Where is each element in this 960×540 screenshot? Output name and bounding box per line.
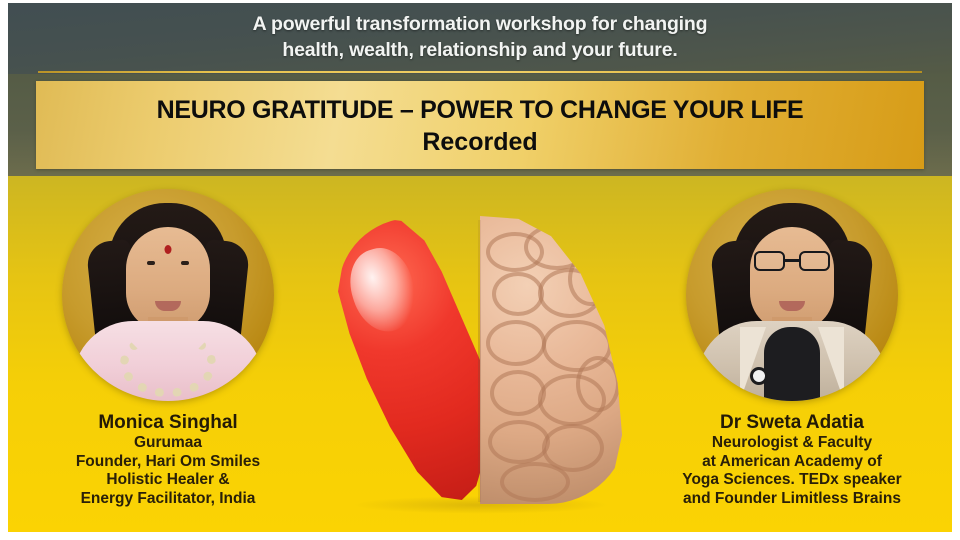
portrait-face (126, 227, 210, 331)
portrait-face (750, 227, 834, 331)
speaker-name: Dr Sweta Adatia (642, 411, 942, 434)
title-plate: NEURO GRATITUDE – POWER TO CHANGE YOUR L… (36, 81, 924, 169)
heart-brain-icon (330, 208, 630, 508)
speaker-credential-line: Yoga Sciences. TEDx speaker (642, 471, 942, 490)
speaker-card-dr-sweta-adatia: Dr Sweta Adatia Neurologist & Faculty at… (642, 189, 942, 508)
portrait-eye-right (181, 261, 189, 265)
portrait-bindi (165, 245, 172, 254)
workshop-format-label: Recorded (422, 126, 537, 158)
portrait-bead-necklace (120, 331, 216, 397)
speaker-credential-line: Holistic Healer & (18, 471, 318, 490)
eyeglasses-lens-right (799, 251, 830, 271)
brain-gyrus (576, 356, 620, 412)
speaker-credential-line: Energy Facilitator, India (18, 490, 318, 509)
brain-gyrus (524, 224, 590, 270)
eyeglasses-bridge (785, 259, 799, 262)
promotional-poster: A powerful transformation workshop for c… (0, 0, 960, 540)
portrait-lapel-left (740, 327, 766, 401)
portrait-eye-left (147, 261, 155, 265)
speaker-credential-line: Gurumaa (18, 434, 318, 453)
portrait-wristwatch (750, 367, 768, 385)
eyeglasses-icon (754, 251, 830, 273)
portrait-garment (697, 321, 887, 401)
speaker-credentials: Neurologist & Faculty at American Academ… (642, 434, 942, 508)
brain-gyrus (486, 320, 546, 366)
avatar (686, 189, 898, 401)
portrait-inner-top (764, 327, 820, 401)
eyeglasses-lens-left (754, 251, 785, 271)
speaker-credential-line: at American Academy of (642, 453, 942, 472)
speaker-name: Monica Singhal (18, 411, 318, 434)
speaker-card-monica-singhal: Monica Singhal Gurumaa Founder, Hari Om … (18, 189, 318, 508)
brain-gyrus (492, 272, 544, 316)
workshop-title: NEURO GRATITUDE – POWER TO CHANGE YOUR L… (157, 94, 804, 126)
portrait-lapel-right (818, 327, 844, 401)
banner-tagline-line2: health, wealth, relationship and your fu… (8, 37, 952, 63)
brain-gyrus (568, 252, 614, 306)
brain-half (480, 216, 628, 504)
graphic-center-seam (478, 220, 481, 502)
banner-tagline: A powerful transformation workshop for c… (8, 11, 952, 63)
heart-half (338, 218, 482, 500)
brain-gyrus (500, 462, 570, 502)
poster-canvas: A powerful transformation workshop for c… (8, 3, 952, 532)
header-band: A powerful transformation workshop for c… (8, 3, 952, 74)
brain-gyrus (490, 370, 546, 416)
speaker-credentials: Gurumaa Founder, Hari Om Smiles Holistic… (18, 434, 318, 508)
speaker-credential-line: Founder, Hari Om Smiles (18, 453, 318, 472)
speaker-credential-line: Neurologist & Faculty (642, 434, 942, 453)
speaker-credential-line: and Founder Limitless Brains (642, 490, 942, 509)
gold-divider-rule (38, 71, 922, 73)
banner-tagline-line1: A powerful transformation workshop for c… (8, 11, 952, 37)
brain-gyrus (488, 420, 550, 464)
avatar (62, 189, 274, 401)
